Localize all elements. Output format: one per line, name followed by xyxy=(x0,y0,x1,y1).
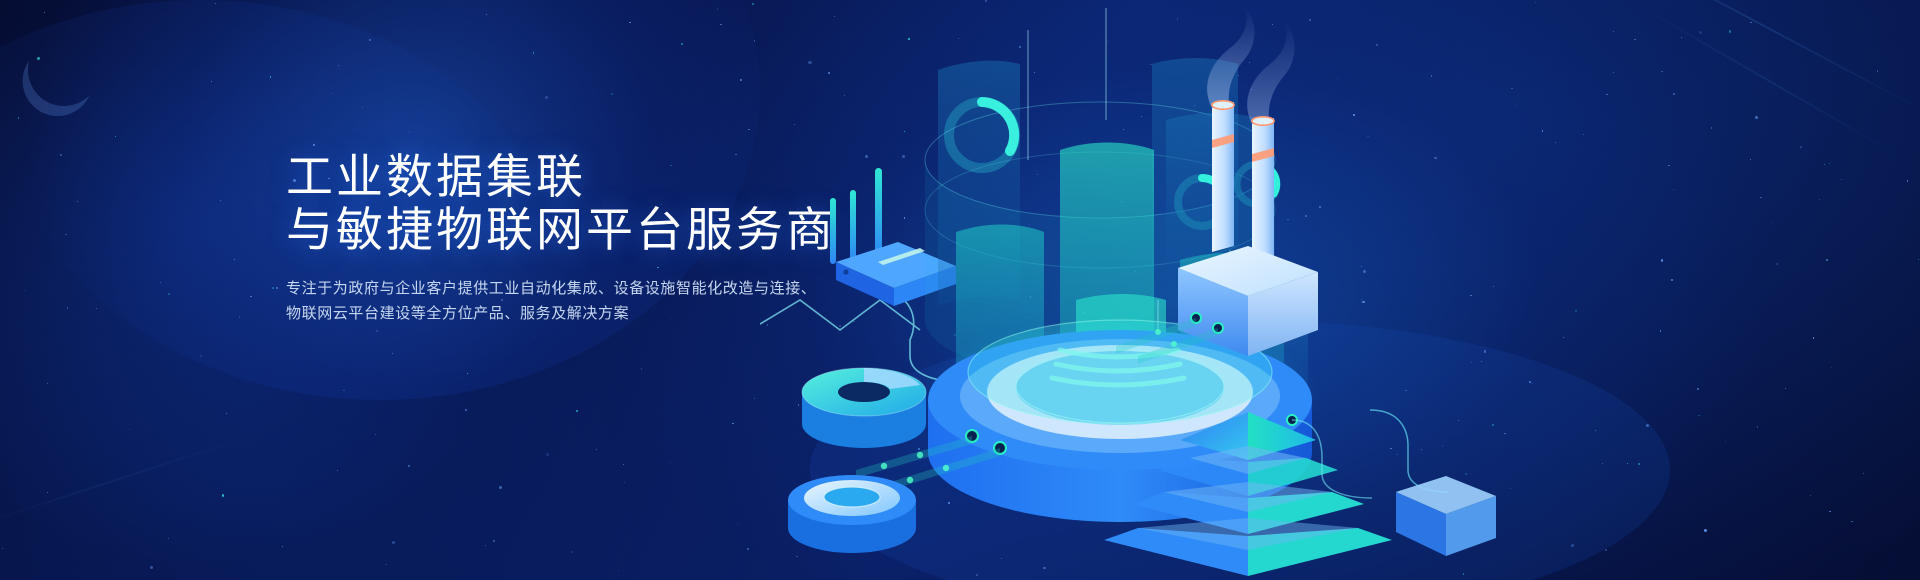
hero-illustration xyxy=(760,0,1920,580)
donut-disk xyxy=(802,368,926,448)
ring-disk xyxy=(788,475,916,553)
hero-banner: 工业数据集联 与敏捷物联网平台服务商 专注于为政府与企业客户提供工业自动化集成、… xyxy=(0,0,1920,580)
title-line-1: 工业数据集联 xyxy=(286,150,586,203)
